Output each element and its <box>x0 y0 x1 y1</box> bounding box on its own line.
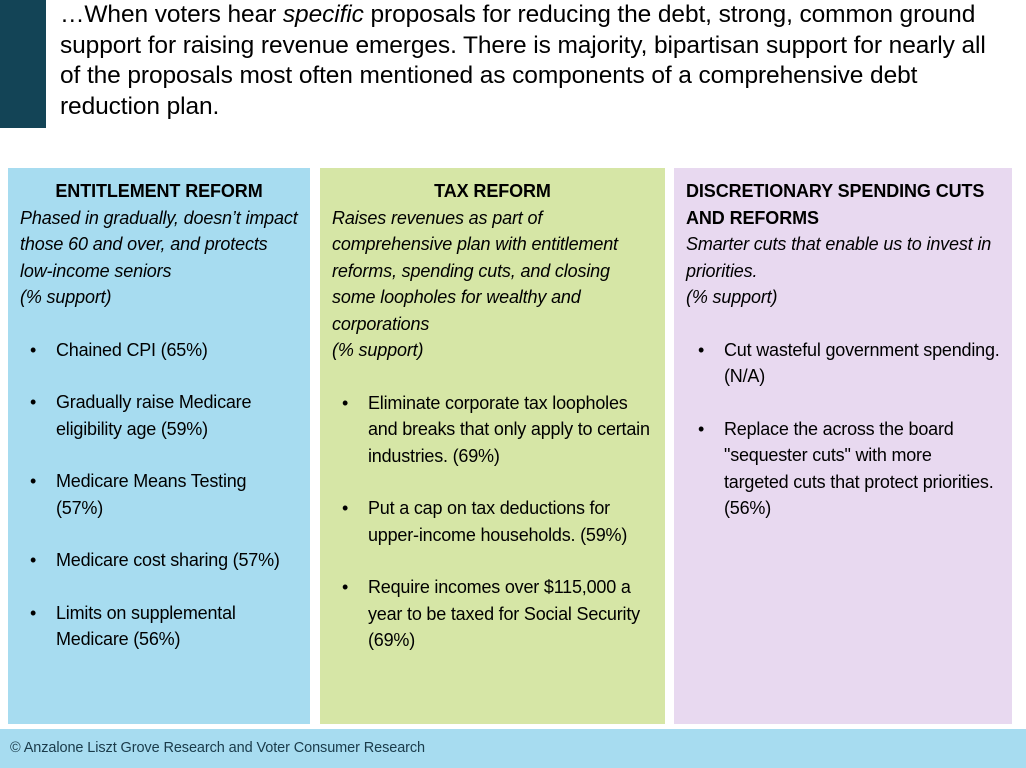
bullet-dot-icon: • <box>30 468 36 495</box>
accent-bar <box>0 0 46 128</box>
headline-part-1: …When voters hear <box>60 1 283 28</box>
list-item-label: Medicare Means Testing (57%) <box>56 471 246 518</box>
bullet-list-discretionary: •Cut wasteful government spending. (N/A)… <box>686 337 1000 522</box>
panel-entitlement-reform: ENTITLEMENT REFORM Phased in gradually, … <box>8 168 310 724</box>
bullet-dot-icon: • <box>342 495 348 522</box>
headline-emphasis: specific <box>283 1 364 28</box>
list-item-label: Medicare cost sharing (57%) <box>56 550 280 570</box>
list-item: •Medicare cost sharing (57%) <box>20 547 298 574</box>
panel-subtitle-discretionary: Smarter cuts that enable us to invest in… <box>686 231 1000 311</box>
list-item: •Limits on supplemental Medicare (56%) <box>20 600 298 653</box>
panel-discretionary-spending: DISCRETIONARY SPENDING CUTS AND REFORMS … <box>674 168 1012 724</box>
bullet-dot-icon: • <box>30 389 36 416</box>
bullet-dot-icon: • <box>342 390 348 417</box>
bullet-dot-icon: • <box>698 337 704 364</box>
list-item-label: Limits on supplemental Medicare (56%) <box>56 603 236 650</box>
bullet-list-tax: •Eliminate corporate tax loopholes and b… <box>332 390 653 654</box>
columns-container: ENTITLEMENT REFORM Phased in gradually, … <box>0 168 1026 724</box>
slide-header: …When voters hear specific proposals for… <box>0 0 1026 132</box>
headline-text: …When voters hear specific proposals for… <box>60 0 990 122</box>
panel-title-entitlement: ENTITLEMENT REFORM <box>20 178 298 205</box>
panel-title-discretionary: DISCRETIONARY SPENDING CUTS AND REFORMS <box>686 178 1000 231</box>
panel-subtitle-entitlement: Phased in gradually, doesn’t impact thos… <box>20 205 298 311</box>
panel-subtitle-tax: Raises revenues as part of comprehensive… <box>332 205 653 364</box>
list-item-label: Gradually raise Medicare eligibility age… <box>56 392 251 439</box>
list-item-label: Put a cap on tax deductions for upper-in… <box>368 498 627 545</box>
list-item: •Chained CPI (65%) <box>20 337 298 364</box>
list-item: •Cut wasteful government spending. (N/A) <box>686 337 1000 390</box>
panel-title-tax: TAX REFORM <box>332 178 653 205</box>
list-item-label: Chained CPI (65%) <box>56 340 208 360</box>
list-item: •Medicare Means Testing (57%) <box>20 468 298 521</box>
footer-bar: © Anzalone Liszt Grove Research and Vote… <box>0 729 1026 768</box>
bullet-dot-icon: • <box>698 416 704 443</box>
bullet-dot-icon: • <box>30 337 36 364</box>
bullet-dot-icon: • <box>30 547 36 574</box>
panel-tax-reform: TAX REFORM Raises revenues as part of co… <box>320 168 665 724</box>
bullet-dot-icon: • <box>30 600 36 627</box>
copyright-text: © Anzalone Liszt Grove Research and Vote… <box>10 740 425 757</box>
list-item-label: Require incomes over $115,000 a year to … <box>368 577 640 650</box>
list-item-label: Eliminate corporate tax loopholes and br… <box>368 393 650 466</box>
bullet-list-entitlement: •Chained CPI (65%) •Gradually raise Medi… <box>20 337 298 653</box>
list-item: •Require incomes over $115,000 a year to… <box>332 574 653 654</box>
list-item: •Put a cap on tax deductions for upper-i… <box>332 495 653 548</box>
bullet-dot-icon: • <box>342 574 348 601</box>
list-item: •Gradually raise Medicare eligibility ag… <box>20 389 298 442</box>
list-item-label: Replace the across the board "sequester … <box>724 419 994 519</box>
list-item: •Replace the across the board "sequester… <box>686 416 1000 522</box>
list-item: •Eliminate corporate tax loopholes and b… <box>332 390 653 470</box>
list-item-label: Cut wasteful government spending. (N/A) <box>724 340 1000 387</box>
